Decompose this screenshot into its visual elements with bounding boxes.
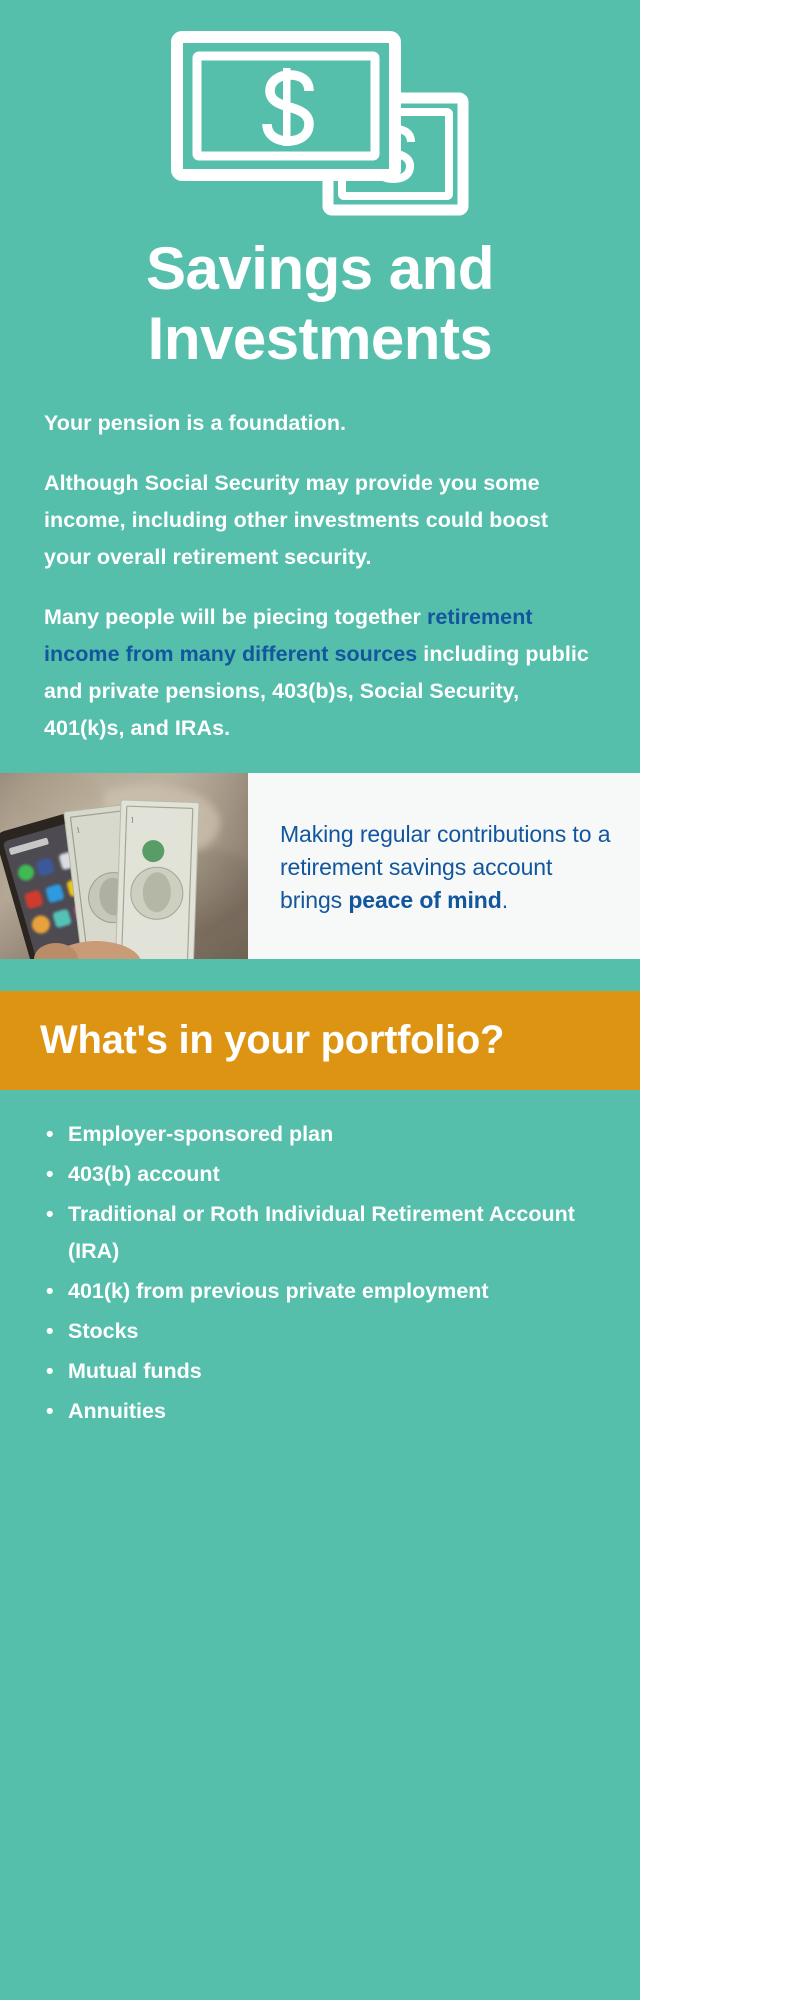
intro-paragraph-2: Although Social Security may provide you… [44,465,596,576]
quote-section: 1 1 1 Making regular contr [0,773,640,959]
portfolio-list-container: Employer-sponsored plan 403(b) account T… [0,1090,640,1493]
intro-paragraph-1: Your pension is a foundation. [44,405,596,442]
quote-text: Making regular contributions to a retire… [280,818,612,917]
list-item: Employer-sponsored plan [44,1116,596,1153]
quote-emphasis: peace of mind [348,887,501,913]
svg-text:1: 1 [130,815,134,824]
hand-holding-phone-and-dollar-bills-photo: 1 1 1 [0,773,248,959]
intro-paragraph-3: Many people will be piecing together ret… [44,599,596,747]
portfolio-banner-title: What's in your portfolio? [40,1018,504,1063]
portfolio-banner: What's in your portfolio? [0,991,640,1090]
infographic-root: Savings and Investments Your pension is … [0,0,640,2000]
list-item: 403(b) account [44,1156,596,1193]
money-banknotes-icon [170,30,470,220]
list-item: Traditional or Roth Individual Retiremen… [44,1196,596,1270]
list-item: Mutual funds [44,1353,596,1390]
intro-text-block: Your pension is a foundation. Although S… [44,405,596,747]
list-item: Annuities [44,1393,596,1430]
intro-paragraph-3-lead: Many people will be piecing together [44,605,427,629]
portfolio-list: Employer-sponsored plan 403(b) account T… [44,1116,596,1430]
page-title: Savings and Investments [40,234,600,373]
header-icon-container [0,0,640,220]
quote-card: Making regular contributions to a retire… [248,773,640,959]
list-item: Stocks [44,1313,596,1350]
quote-tail: . [502,887,508,913]
list-item: 401(k) from previous private employment [44,1273,596,1310]
